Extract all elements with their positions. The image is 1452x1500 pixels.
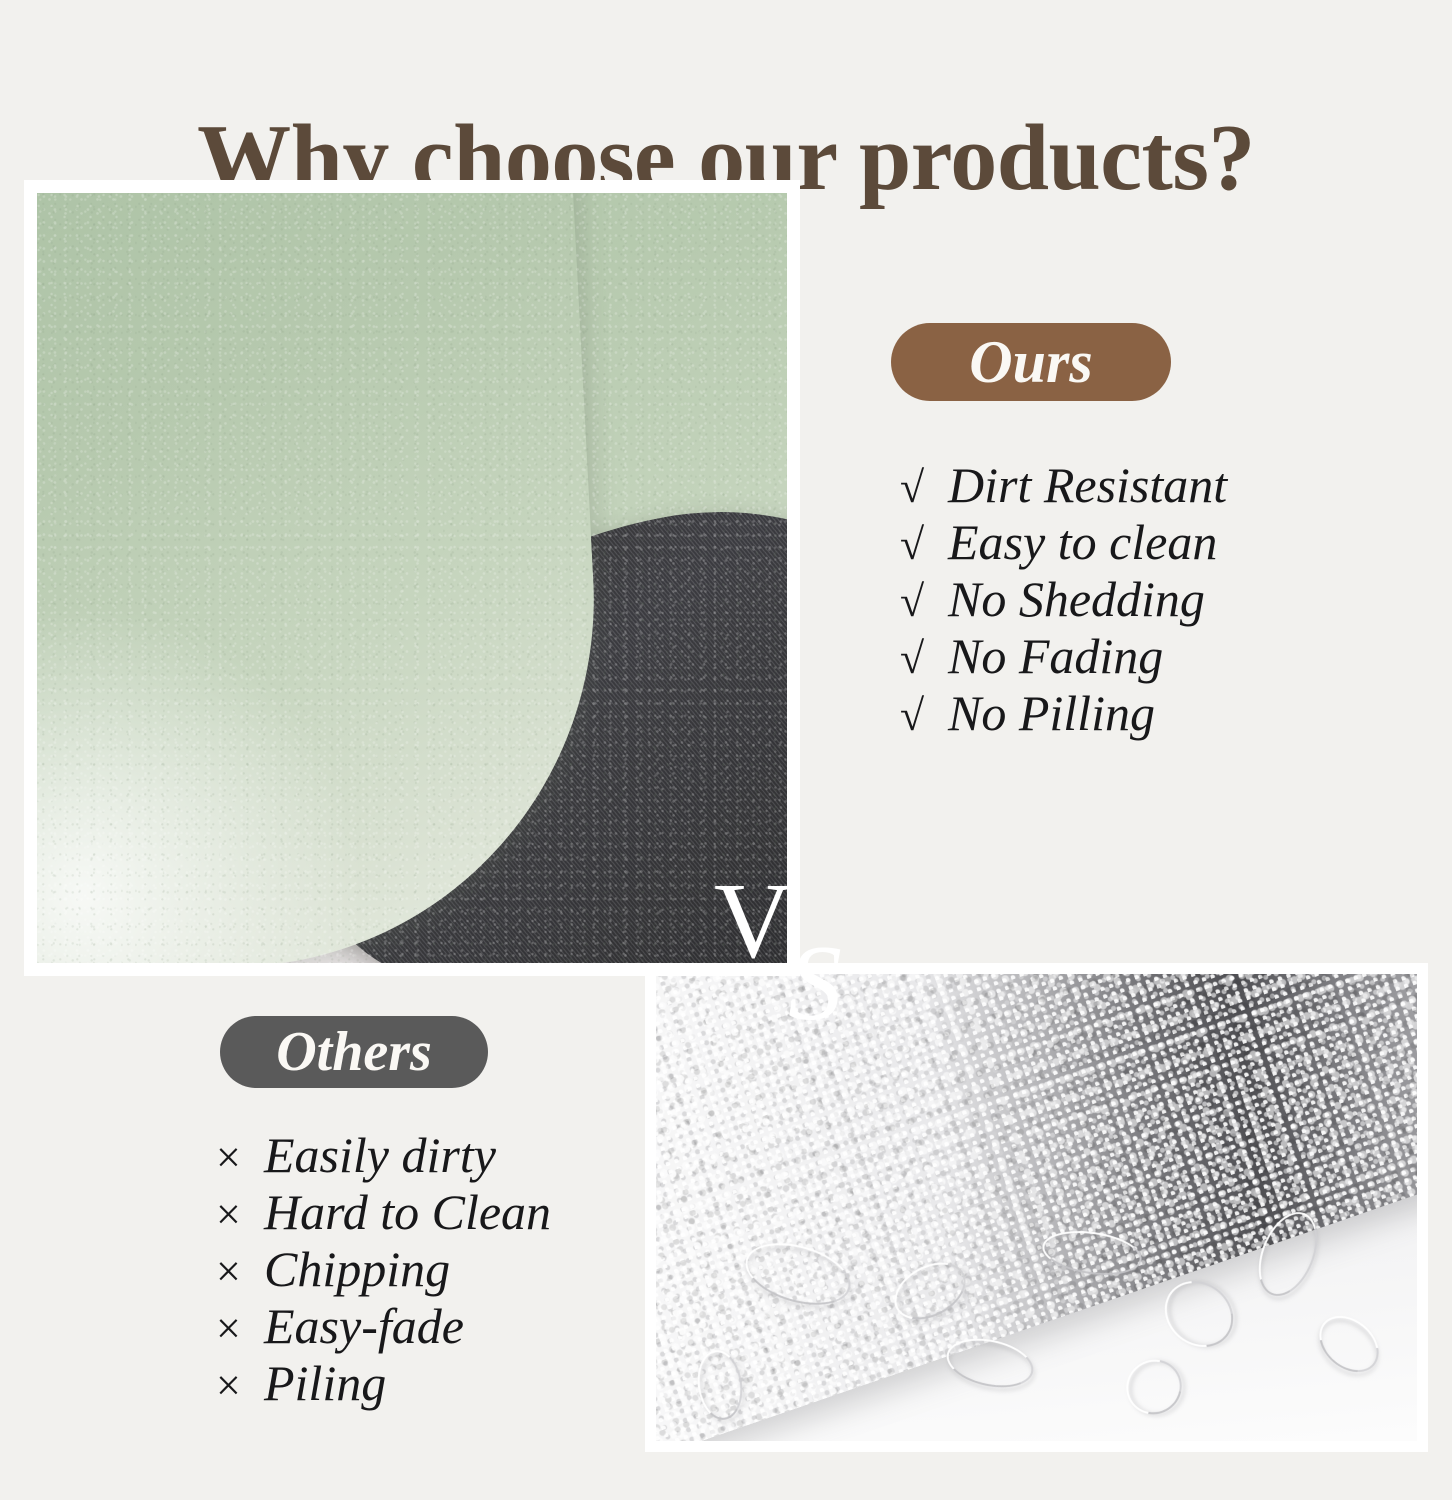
ours-product-photo — [37, 193, 787, 963]
list-item: × Easy-fade — [216, 1299, 646, 1356]
suede-texture-overlay — [37, 193, 787, 963]
list-item-label: Easy-fade — [264, 1299, 464, 1354]
ours-product-photo-frame — [24, 180, 800, 976]
comparison-infographic: Why choose our products? — [0, 0, 1452, 1500]
list-item-label: Hard to Clean — [264, 1185, 551, 1240]
list-item-label: Piling — [264, 1356, 386, 1411]
cross-icon: × — [216, 1130, 264, 1185]
list-item: × Piling — [216, 1356, 646, 1413]
cross-icon: × — [216, 1301, 264, 1356]
cross-icon: × — [216, 1244, 264, 1299]
list-item: √ No Shedding — [900, 572, 1320, 629]
others-product-photo — [656, 974, 1417, 1441]
list-item: × Hard to Clean — [216, 1185, 646, 1242]
list-item: √ Dirt Resistant — [900, 458, 1320, 515]
list-item: × Easily dirty — [216, 1128, 646, 1185]
check-icon: √ — [900, 460, 948, 515]
list-item: √ No Fading — [900, 629, 1320, 686]
list-item-label: No Shedding — [948, 572, 1205, 627]
list-item: √ No Pilling — [900, 686, 1320, 743]
check-icon: √ — [900, 574, 948, 629]
list-item-label: No Pilling — [948, 686, 1155, 741]
list-item: × Chipping — [216, 1242, 646, 1299]
ours-feature-list: √ Dirt Resistant √ Easy to clean √ No Sh… — [900, 458, 1320, 743]
cross-icon: × — [216, 1358, 264, 1413]
others-feature-list: × Easily dirty × Hard to Clean × Chippin… — [216, 1128, 646, 1413]
others-product-photo-frame — [645, 963, 1428, 1452]
check-icon: √ — [900, 688, 948, 743]
list-item-label: Easily dirty — [264, 1128, 496, 1183]
check-icon: √ — [900, 517, 948, 572]
others-badge: Others — [220, 1016, 488, 1088]
list-item-label: Dirt Resistant — [948, 458, 1227, 513]
list-item-label: Chipping — [264, 1242, 450, 1297]
list-item-label: Easy to clean — [948, 515, 1217, 570]
cross-icon: × — [216, 1187, 264, 1242]
ours-badge: Ours — [891, 323, 1171, 401]
check-icon: √ — [900, 631, 948, 686]
list-item: √ Easy to clean — [900, 515, 1320, 572]
list-item-label: No Fading — [948, 629, 1163, 684]
